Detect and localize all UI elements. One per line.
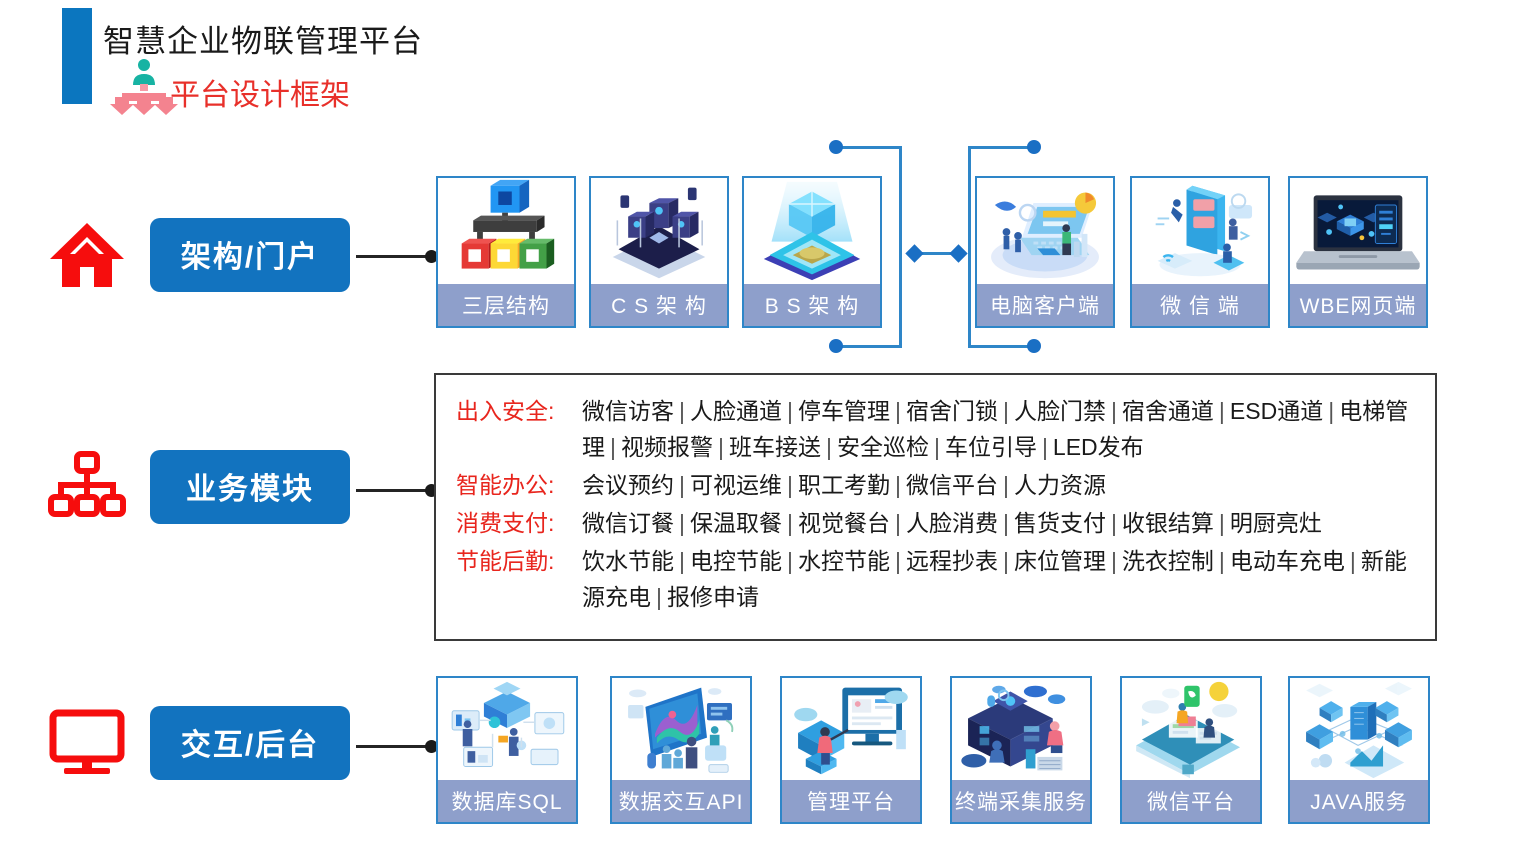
card-caption: WBE网页端 bbox=[1290, 284, 1426, 326]
desktop-client-illustration bbox=[977, 178, 1113, 284]
monitor-icon bbox=[48, 707, 126, 779]
org-chart-icon bbox=[48, 451, 126, 523]
card-cs-architecture[interactable]: C S 架 构 bbox=[589, 176, 729, 328]
business-category-items: 会议预约|可视运维|职工考勤|微信平台|人力资源 bbox=[582, 467, 1415, 503]
card-caption: 微 信 端 bbox=[1132, 284, 1268, 326]
card-caption: 三层结构 bbox=[438, 284, 574, 326]
card-database-sql[interactable]: 数据库SQL bbox=[436, 676, 578, 824]
card-caption: 数据库SQL bbox=[438, 780, 576, 822]
business-category-items: 微信订餐|保温取餐|视觉餐台|人脸消费|售货支付|收银结算|明厨亮灶 bbox=[582, 505, 1415, 541]
business-category-row: 节能后勤: 饮水节能|电控节能|水控节能|远程抄表|床位管理|洗衣控制|电动车充… bbox=[456, 543, 1415, 615]
card-caption: B S 架 构 bbox=[744, 284, 880, 326]
card-caption: 终端采集服务 bbox=[952, 780, 1090, 822]
card-caption: 微信平台 bbox=[1122, 780, 1260, 822]
connector-line-architecture bbox=[356, 255, 434, 258]
card-wechat-platform[interactable]: 微信平台 bbox=[1120, 676, 1262, 824]
card-terminal-collection[interactable]: 终端采集服务 bbox=[950, 676, 1092, 824]
page-title: 智慧企业物联管理平台 bbox=[103, 16, 423, 61]
business-category-label: 出入安全: bbox=[456, 393, 582, 429]
slide-canvas: 智慧企业物联管理平台 平台设计框架 架构/门户 bbox=[0, 0, 1536, 864]
terminal-collection-illustration bbox=[952, 678, 1090, 780]
row-label-business[interactable]: 业务模块 bbox=[48, 450, 350, 524]
card-management-platform[interactable]: 管理平台 bbox=[780, 676, 922, 824]
row-label-backend-text: 交互/后台 bbox=[150, 706, 350, 780]
management-platform-illustration bbox=[782, 678, 920, 780]
row-label-business-text: 业务模块 bbox=[150, 450, 350, 524]
card-three-tier[interactable]: 三层结构 bbox=[436, 176, 576, 328]
home-icon bbox=[48, 219, 126, 291]
wechat-platform-illustration bbox=[1122, 678, 1260, 780]
row-label-architecture[interactable]: 架构/门户 bbox=[48, 218, 350, 292]
business-category-label: 消费支付: bbox=[456, 505, 582, 541]
card-caption: C S 架 构 bbox=[591, 284, 727, 326]
business-category-row: 智能办公: 会议预约|可视运维|职工考勤|微信平台|人力资源 bbox=[456, 467, 1415, 503]
page-subtitle: 平台设计框架 bbox=[170, 70, 350, 114]
card-bs-architecture[interactable]: B S 架 构 bbox=[742, 176, 882, 328]
header-accent-bar bbox=[62, 8, 92, 104]
java-service-illustration bbox=[1290, 678, 1428, 780]
business-modules-box: 出入安全: 微信访客|人脸通道|停车管理|宿舍门锁|人脸门禁|宿舍通道|ESD通… bbox=[434, 373, 1437, 641]
person-distribute-arrows-icon bbox=[113, 57, 175, 115]
database-illustration bbox=[438, 678, 576, 780]
business-category-label: 节能后勤: bbox=[456, 543, 582, 579]
card-java-service[interactable]: JAVA服务 bbox=[1288, 676, 1430, 824]
mobile-wechat-illustration bbox=[1132, 178, 1268, 284]
api-exchange-illustration bbox=[612, 678, 750, 780]
card-caption: 电脑客户端 bbox=[977, 284, 1113, 326]
card-caption: JAVA服务 bbox=[1290, 780, 1428, 822]
bs-hologram-cube-icon bbox=[744, 178, 880, 284]
laptop-webpage-illustration bbox=[1290, 178, 1426, 284]
row-label-backend[interactable]: 交互/后台 bbox=[48, 706, 350, 780]
card-web-client[interactable]: WBE网页端 bbox=[1288, 176, 1428, 328]
stacked-cubes-icon bbox=[438, 178, 574, 284]
business-category-row: 出入安全: 微信访客|人脸通道|停车管理|宿舍门锁|人脸门禁|宿舍通道|ESD通… bbox=[456, 393, 1415, 465]
card-desktop-client[interactable]: 电脑客户端 bbox=[975, 176, 1115, 328]
card-data-api[interactable]: 数据交互API bbox=[610, 676, 752, 824]
business-category-items: 饮水节能|电控节能|水控节能|远程抄表|床位管理|洗衣控制|电动车充电|新能源充… bbox=[582, 543, 1415, 615]
card-caption: 数据交互API bbox=[612, 780, 750, 822]
cs-server-cluster-icon bbox=[591, 178, 727, 284]
card-caption: 管理平台 bbox=[782, 780, 920, 822]
connector-line-business bbox=[356, 489, 434, 492]
row-label-architecture-text: 架构/门户 bbox=[150, 218, 350, 292]
business-category-row: 消费支付: 微信订餐|保温取餐|视觉餐台|人脸消费|售货支付|收银结算|明厨亮灶 bbox=[456, 505, 1415, 541]
connector-line-backend bbox=[356, 745, 434, 748]
business-category-items: 微信访客|人脸通道|停车管理|宿舍门锁|人脸门禁|宿舍通道|ESD通道|电梯管理… bbox=[582, 393, 1415, 465]
card-wechat-client[interactable]: 微 信 端 bbox=[1130, 176, 1270, 328]
business-category-label: 智能办公: bbox=[456, 467, 582, 503]
